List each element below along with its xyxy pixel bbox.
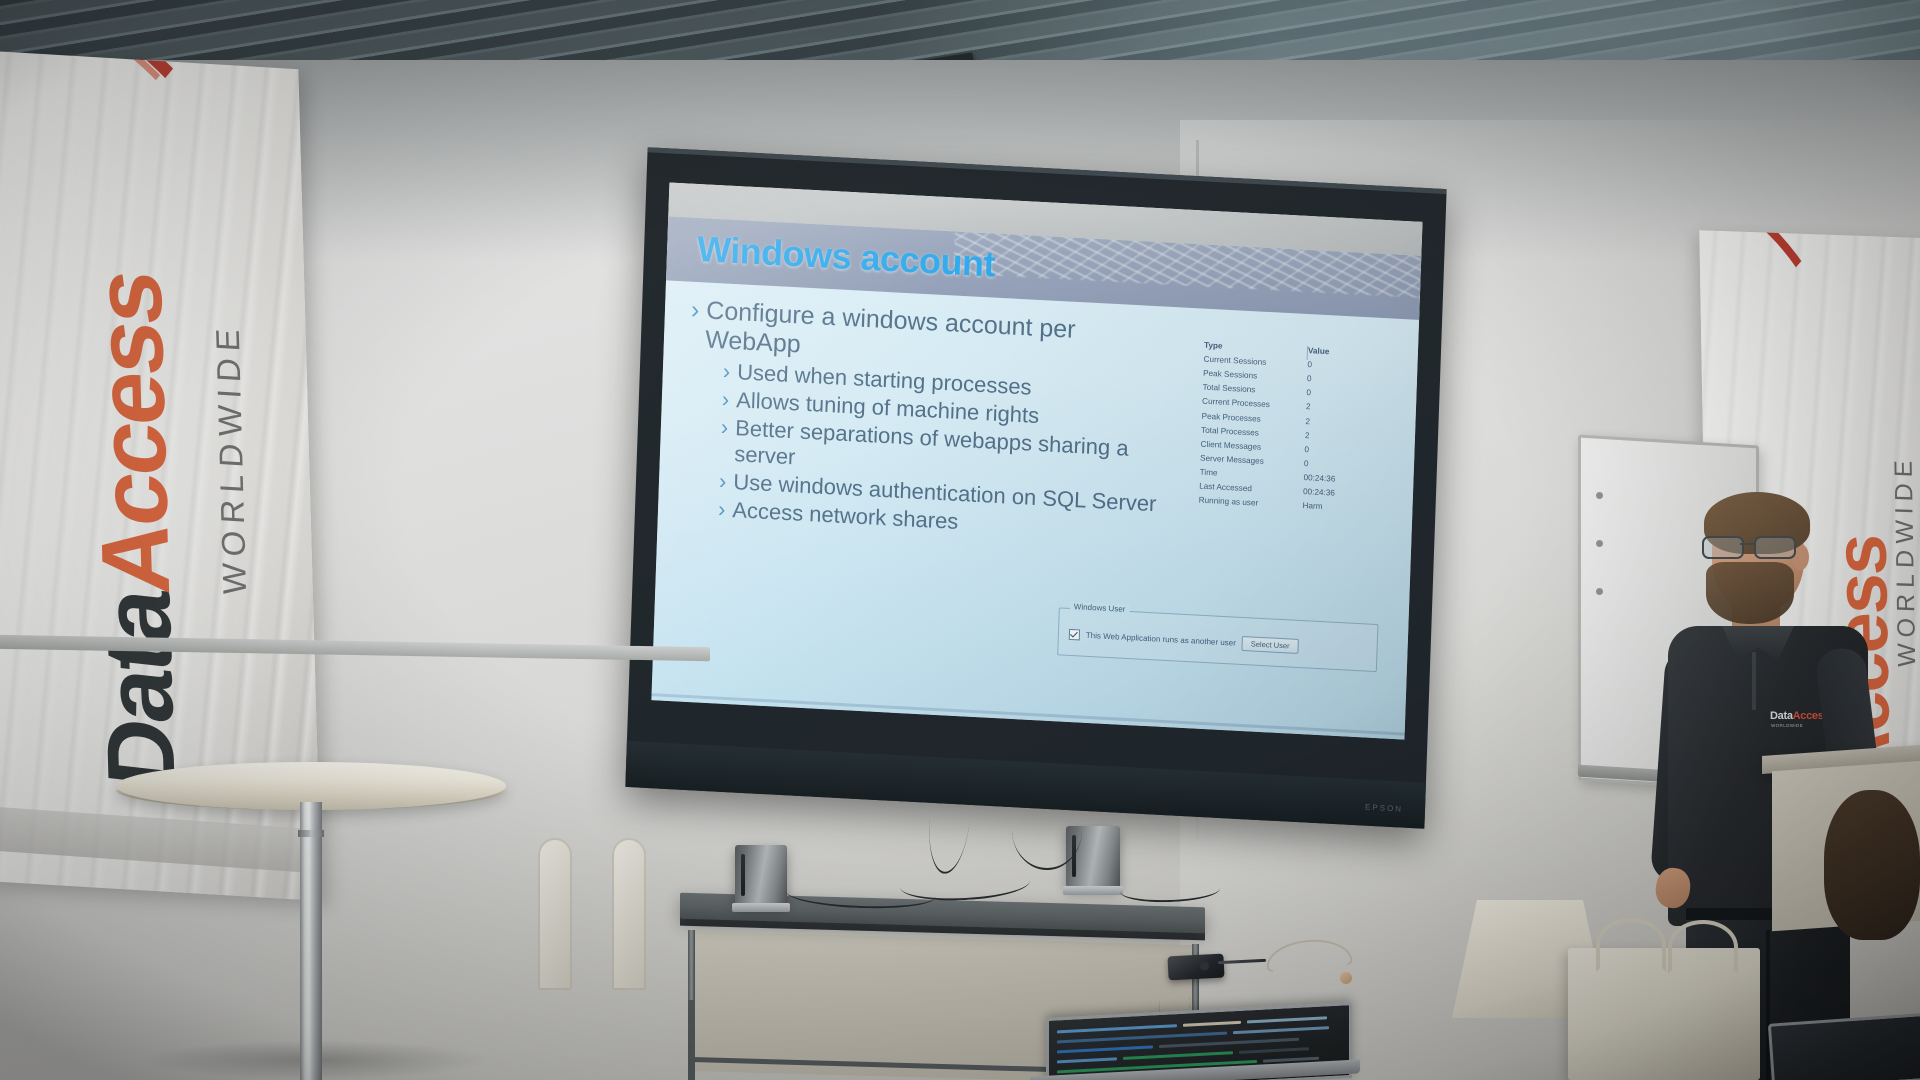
speaker-base-left — [732, 903, 790, 912]
shirt-logo-tagline: WORLDWIDE — [1771, 723, 1803, 728]
chair-left — [538, 838, 572, 990]
code-line — [1233, 1026, 1329, 1034]
glasses-bridge — [1740, 543, 1754, 545]
groupbox-legend: Windows User — [1070, 602, 1130, 614]
paper-bag-handle-right — [1668, 920, 1738, 974]
mic-transmitter-button[interactable] — [1200, 961, 1209, 970]
av-table-rail-left — [688, 1000, 695, 1080]
chevron-icon: › — [719, 468, 727, 494]
whiteboard-magnet-3 — [1596, 588, 1603, 595]
glasses-icon — [1702, 536, 1806, 556]
code-line — [1239, 1047, 1309, 1054]
run-as-another-user-label: This Web Application runs as another use… — [1086, 631, 1236, 648]
projected-slide-area: Windows account › Configure a windows ac… — [651, 182, 1422, 739]
glasses-left-lens — [1702, 536, 1744, 559]
chevron-icon: › — [722, 358, 730, 384]
chevron-icon: › — [721, 386, 729, 412]
speaker-base-right — [1063, 886, 1123, 895]
code-line — [1057, 1024, 1177, 1033]
chevron-icon: › — [718, 496, 726, 522]
projection-screen: Windows account › Configure a windows ac… — [625, 147, 1446, 828]
windows-user-groupbox: Windows User This Web Application runs a… — [1057, 607, 1378, 672]
left-banner-wordmark: DataAccess — [75, 81, 191, 793]
cell-value: Harm — [1302, 499, 1372, 517]
code-line — [1057, 1045, 1153, 1053]
session-stats-table: Type Value Current Sessions 0 Peak Sessi… — [1198, 339, 1384, 518]
code-line — [1123, 1051, 1233, 1060]
paper-bag-handle-left — [1596, 918, 1666, 972]
chevron-icon: › — [720, 414, 728, 440]
select-user-button[interactable]: Select User — [1242, 636, 1299, 654]
whiteboard-magnet-1 — [1596, 492, 1603, 499]
left-banner-brand-data: Data — [83, 586, 196, 794]
projector-brand-label: EPSON — [1365, 803, 1403, 814]
presenter-placket — [1752, 652, 1756, 710]
cafe-table-stem-band — [298, 830, 324, 837]
cafe-table-stem — [300, 802, 322, 1080]
chevron-icon: › — [690, 296, 699, 325]
code-line — [1247, 1016, 1327, 1023]
shirt-logo-data: Data — [1770, 710, 1793, 722]
conference-room-photo: DataAccess WORLDWIDE Access WORLDWIDE Wi… — [0, 0, 1920, 1080]
presenter-beard — [1706, 562, 1794, 624]
slide-bullet-list: › Configure a windows account per WebApp… — [684, 296, 1171, 548]
wireless-mic-transmitter[interactable] — [1167, 954, 1224, 981]
bose-speaker-left — [735, 845, 787, 905]
chair-right — [612, 838, 646, 990]
headset-earpiece — [1340, 972, 1352, 984]
left-banner-brand-access: Access — [74, 267, 190, 598]
glasses-right-lens — [1754, 536, 1796, 559]
code-line — [1159, 1038, 1299, 1048]
powerpoint-slide: Windows account › Configure a windows ac… — [651, 182, 1422, 739]
run-as-another-user-checkbox[interactable] — [1069, 629, 1080, 641]
code-line — [1183, 1021, 1241, 1027]
secondary-laptop[interactable] — [1768, 1012, 1920, 1080]
code-line — [1057, 1057, 1117, 1063]
code-line — [1057, 1032, 1227, 1044]
audience-member-head — [1824, 790, 1920, 940]
speaker-port-left — [741, 854, 745, 896]
windows-user-row: This Web Application runs as another use… — [1069, 627, 1299, 654]
speaker-cable-4 — [1012, 790, 1082, 870]
whiteboard-magnet-2 — [1596, 540, 1603, 547]
